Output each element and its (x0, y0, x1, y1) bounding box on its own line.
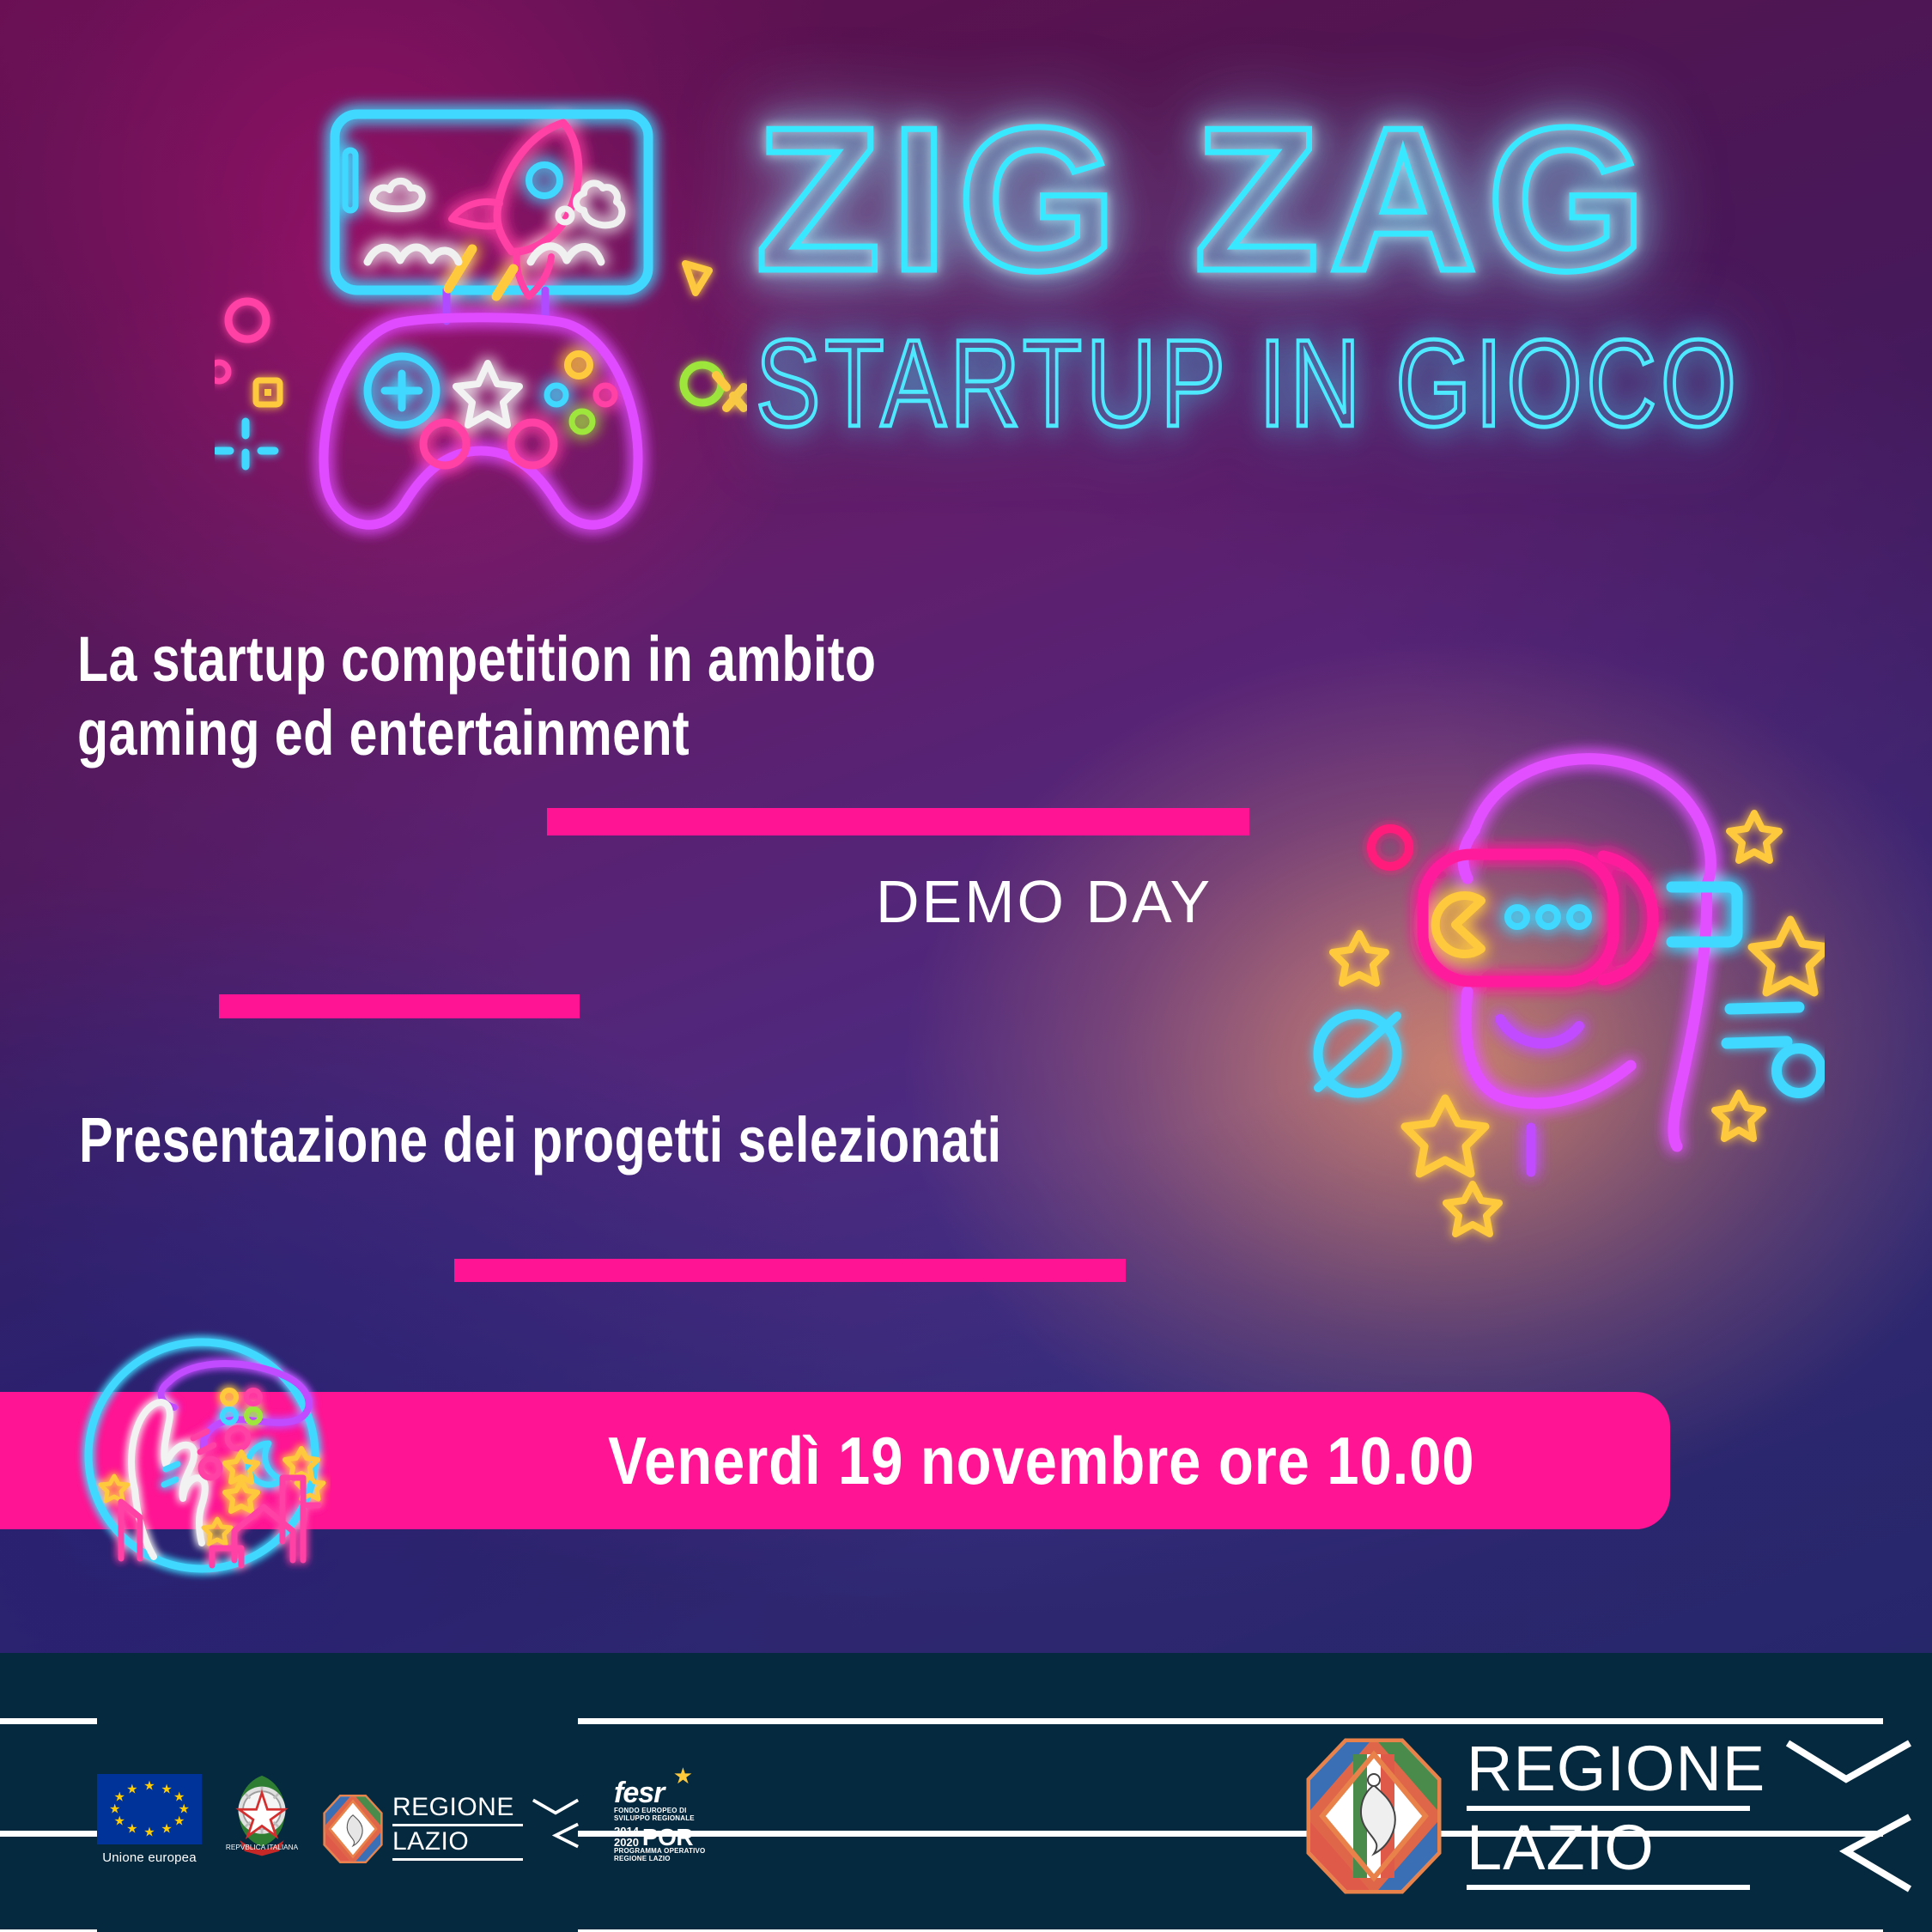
fesr-sub-4: REGIONE LAZIO (614, 1856, 671, 1863)
divider-bar-3 (454, 1259, 1126, 1282)
demo-day-label: DEMO DAY (876, 867, 1212, 936)
eu-logo: ★ ★ ★ ★ ★ ★ ★ ★ ★ ★ ★ ★ Unione europea (97, 1774, 202, 1865)
poster-root: ZIG ZAG STARTUP IN GIOCO La startup comp… (0, 0, 1932, 1932)
headline-line-1: La startup competition in ambito (77, 623, 970, 696)
page-title: ZIG ZAG (756, 103, 1752, 297)
date-value: Venerdì 19 novembre ore 10.00 (608, 1422, 1474, 1500)
gamepad-neon-icon (215, 47, 747, 545)
regione-lazio-logo-small: REGIONE LAZIO (322, 1793, 580, 1865)
fesr-star-icon: ★ (673, 1763, 693, 1789)
eu-caption: Unione europea (102, 1850, 197, 1865)
footer-rule-mid-1 (578, 1718, 1883, 1724)
eu-flag-icon: ★ ★ ★ ★ ★ ★ ★ ★ ★ ★ ★ ★ (97, 1774, 202, 1844)
badge-neon-icon (73, 1327, 331, 1584)
footer-rule-left-2 (0, 1831, 97, 1837)
lazio-label-large: LAZIO (1467, 1816, 1765, 1880)
regione-chevron-large-icon (1783, 1735, 1911, 1898)
regione-rule-large-1 (1467, 1806, 1750, 1811)
presentazione-label: Presentazione dei progetti selezionati (79, 1103, 1109, 1176)
lazio-coat-of-arms-large-icon (1305, 1737, 1443, 1895)
regione-lazio-small-wordmark: REGIONE LAZIO (392, 1795, 523, 1862)
fesr-por-logo: ★ fesr FONDO EUROPEO DI SVILUPPO REGIONA… (614, 1778, 708, 1863)
lazio-coat-of-arms-icon (322, 1793, 384, 1865)
regione-lazio-wordmark-large: REGIONE LAZIO (1467, 1737, 1765, 1895)
por-wordmark: POR (642, 1827, 693, 1848)
lazio-label-small: LAZIO (392, 1829, 523, 1856)
divider-bar-1 (547, 808, 1249, 835)
headline: La startup competition in ambito gaming … (77, 623, 970, 770)
regione-label-large: REGIONE (1467, 1737, 1765, 1801)
title-block: ZIG ZAG STARTUP IN GIOCO (756, 103, 1752, 464)
repubblica-italiana-emblem: REPVBLICA ITALIANA (222, 1765, 301, 1863)
regione-label-small: REGIONE (392, 1795, 523, 1821)
vr-headset-neon-icon (1284, 717, 1825, 1258)
headline-line-2: gaming ed entertainment (77, 696, 970, 770)
regione-rule-large-2 (1467, 1885, 1750, 1890)
regione-rule-small-1 (392, 1824, 523, 1826)
regione-chevron-small-icon (532, 1795, 580, 1863)
regione-rule-small-2 (392, 1858, 523, 1861)
page-subtitle: STARTUP IN GIOCO (756, 313, 1712, 455)
divider-bar-2 (219, 994, 580, 1018)
footer-rule-left-1 (0, 1718, 97, 1724)
fesr-wordmark: fesr (614, 1778, 708, 1807)
regione-lazio-logo-large: REGIONE LAZIO (1305, 1735, 1911, 1898)
footer-logo-cluster: ★ ★ ★ ★ ★ ★ ★ ★ ★ ★ ★ ★ Unione europea (97, 1765, 708, 1865)
svg-text:REPVBLICA ITALIANA: REPVBLICA ITALIANA (226, 1844, 299, 1851)
fesr-sub-2: SVILUPPO REGIONALE (614, 1815, 695, 1823)
